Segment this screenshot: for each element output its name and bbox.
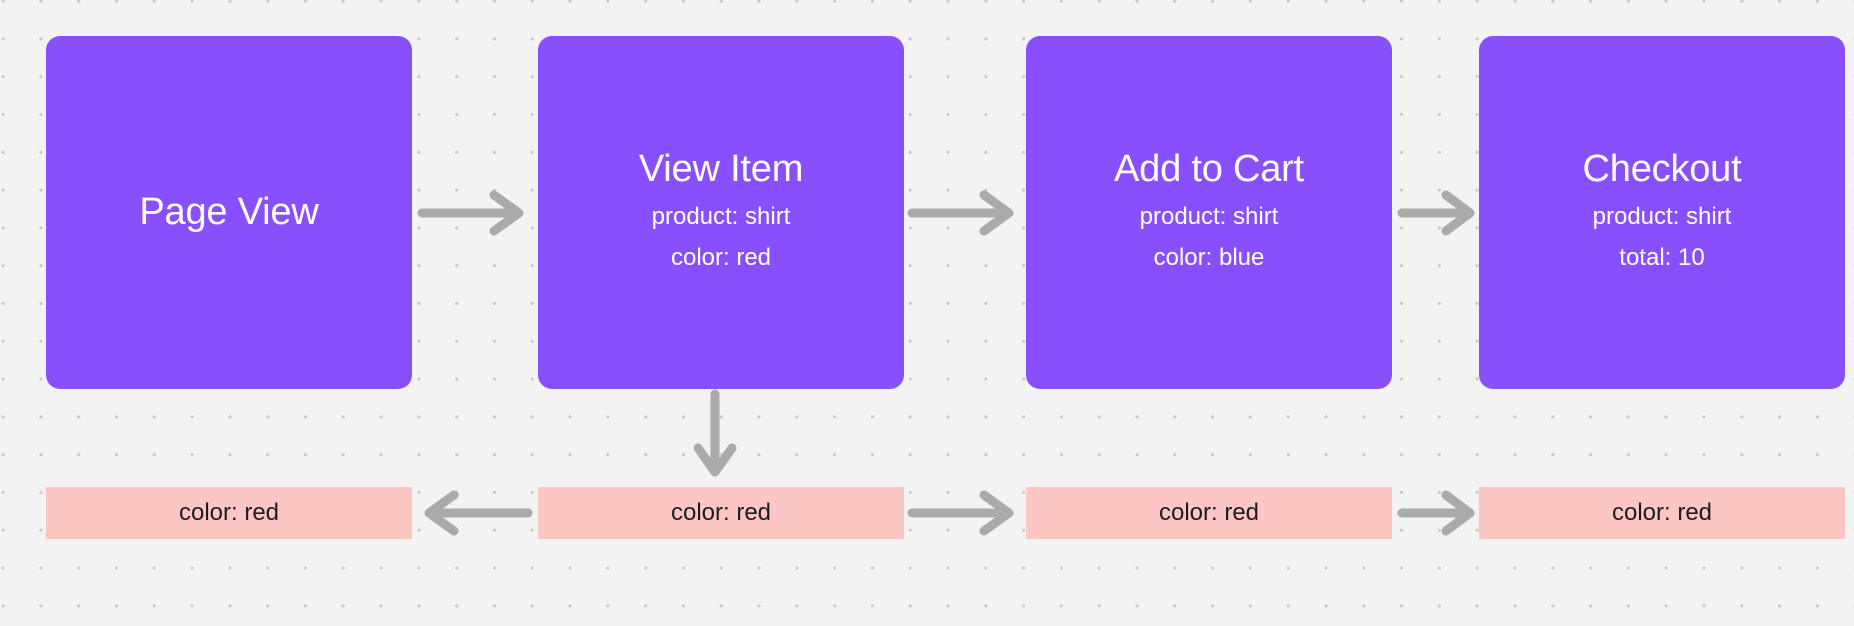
flow-canvas[interactable]: Page View View Item product: shirt color… [0,0,1854,626]
arrow-down-icon-view-item-to-property [694,392,736,482]
arrow-right-icon-property-3-to-property-4 [1400,490,1478,536]
arrow-right-icon-view-item-to-add-to-cart [910,190,1018,236]
event-node-title: Checkout [1583,147,1742,192]
event-node-property: color: red [671,237,771,278]
event-node-property: product: shirt [652,196,791,237]
event-node-view-item[interactable]: View Item product: shirt color: red [538,36,904,389]
event-node-property: product: shirt [1593,196,1732,237]
event-node-title: Page View [139,190,318,235]
event-node-checkout[interactable]: Checkout product: shirt total: 10 [1479,36,1845,389]
arrow-left-icon-property-2-to-property-1 [418,490,530,536]
event-node-title: View Item [639,147,803,192]
arrow-right-icon-page-view-to-view-item [420,190,528,236]
property-node-label: color: red [671,499,771,527]
event-node-properties: product: shirt total: 10 [1593,196,1732,279]
arrow-right-icon-property-2-to-property-3 [910,490,1018,536]
event-node-property: color: blue [1154,237,1265,278]
event-node-property: product: shirt [1140,196,1279,237]
property-node-1[interactable]: color: red [46,487,412,539]
event-node-properties: product: shirt color: blue [1140,196,1279,279]
event-node-property: total: 10 [1619,237,1704,278]
property-node-label: color: red [1612,499,1712,527]
property-node-label: color: red [1159,499,1259,527]
event-node-properties: product: shirt color: red [652,196,791,279]
property-node-4[interactable]: color: red [1479,487,1845,539]
property-node-3[interactable]: color: red [1026,487,1392,539]
event-node-title: Add to Cart [1114,147,1304,192]
property-node-label: color: red [179,499,279,527]
event-node-page-view[interactable]: Page View [46,36,412,389]
property-node-2[interactable]: color: red [538,487,904,539]
event-node-add-to-cart[interactable]: Add to Cart product: shirt color: blue [1026,36,1392,389]
arrow-right-icon-add-to-cart-to-checkout [1400,190,1478,236]
